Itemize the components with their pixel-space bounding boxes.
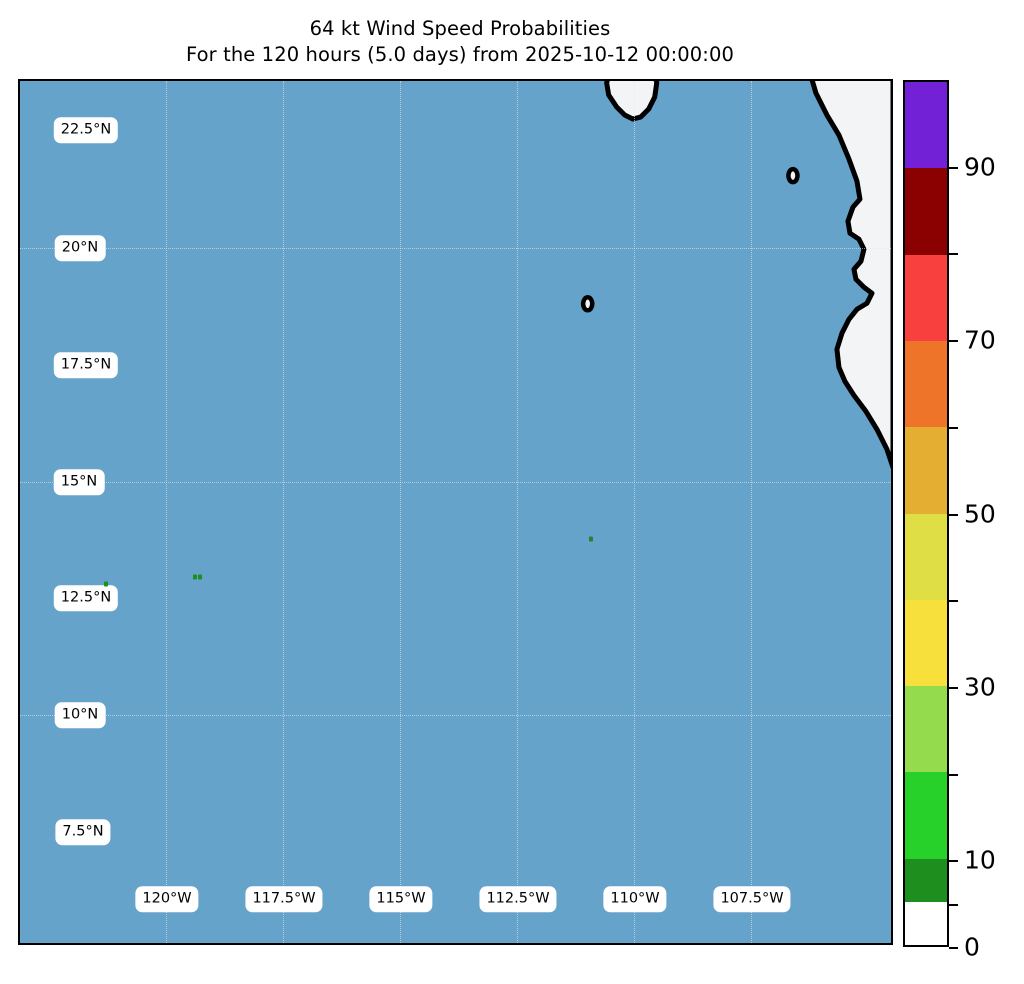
lon-label-110: 110°W: [603, 886, 666, 912]
lat-label-7-5: 7.5°N: [55, 819, 110, 845]
colorbar-tick-40: [949, 600, 958, 602]
colorbar-gradient: [903, 80, 949, 947]
chart-title: 64 kt Wind Speed Probabilities For the 1…: [0, 16, 920, 68]
gridline-lon-120: [166, 81, 167, 943]
colorbar-tick-5: [949, 904, 958, 906]
land-island-socorro: [583, 297, 592, 310]
colorbar-label-70: 70: [964, 328, 996, 353]
lon-label-120: 120°W: [135, 886, 198, 912]
colorbar[interactable]: 01030507090: [903, 80, 949, 947]
land-baja-california-tip: [607, 81, 657, 119]
probability-marker: [193, 574, 197, 579]
gridline-lat-20: [20, 248, 891, 249]
lon-label-117-5: 117.5°W: [245, 886, 322, 912]
colorbar-band-80-90: [905, 168, 947, 254]
gridline-lon-107-5: [751, 81, 752, 943]
colorbar-band-50-60: [905, 427, 947, 513]
map-axes-panel[interactable]: 22.5°N 20°N 17.5°N 15°N 12.5°N 10°N 7.5°…: [18, 79, 893, 945]
colorbar-label-30: 30: [964, 674, 996, 699]
lat-label-12-5: 12.5°N: [54, 585, 118, 611]
lat-label-10: 10°N: [55, 702, 106, 728]
title-line-secondary: For the 120 hours (5.0 days) from 2025-1…: [0, 42, 920, 68]
gridline-lat-10: [20, 715, 891, 716]
gridline-lon-115: [400, 81, 401, 943]
coastline-layer: [20, 81, 891, 943]
colorbar-band-10-20: [905, 772, 947, 858]
gridline-lat-15: [20, 482, 891, 483]
probability-marker: [104, 582, 108, 587]
colorbar-band-60-70: [905, 341, 947, 427]
colorbar-tick-10: [949, 860, 958, 862]
gridline-lon-117-5: [283, 81, 284, 943]
colorbar-tick-80: [949, 253, 958, 255]
land-mainland-mexico: [811, 81, 891, 467]
lat-label-20: 20°N: [55, 235, 106, 261]
colorbar-tick-70: [949, 340, 958, 342]
lon-label-115: 115°W: [369, 886, 432, 912]
colorbar-band-5-10: [905, 859, 947, 902]
lat-label-15: 15°N: [54, 469, 105, 495]
lon-label-107-5: 107.5°W: [713, 886, 790, 912]
probability-marker: [589, 537, 593, 542]
colorbar-band-40-50: [905, 514, 947, 600]
title-line-primary: 64 kt Wind Speed Probabilities: [0, 16, 920, 42]
colorbar-label-90: 90: [964, 154, 996, 179]
land-island-marias: [788, 169, 797, 182]
colorbar-band-70-80: [905, 255, 947, 341]
colorbar-band-0-5: [905, 902, 947, 945]
colorbar-label-50: 50: [964, 501, 996, 526]
colorbar-tick-30: [949, 687, 958, 689]
gridline-lon-110: [634, 81, 635, 943]
lon-label-112-5: 112.5°W: [479, 886, 556, 912]
colorbar-tick-90: [949, 167, 958, 169]
colorbar-tick-20: [949, 774, 958, 776]
colorbar-tick-50: [949, 514, 958, 516]
colorbar-tick-0: [949, 947, 958, 949]
colorbar-label-10: 10: [964, 848, 996, 873]
gridline-lon-112-5: [517, 81, 518, 943]
colorbar-band-30-40: [905, 600, 947, 686]
colorbar-band-90-100: [905, 82, 947, 168]
lat-label-17-5: 17.5°N: [54, 352, 118, 378]
lat-label-22-5: 22.5°N: [54, 117, 118, 143]
colorbar-band-20-30: [905, 686, 947, 772]
probability-marker: [198, 574, 202, 579]
colorbar-label-0: 0: [964, 935, 980, 960]
colorbar-tick-60: [949, 427, 958, 429]
